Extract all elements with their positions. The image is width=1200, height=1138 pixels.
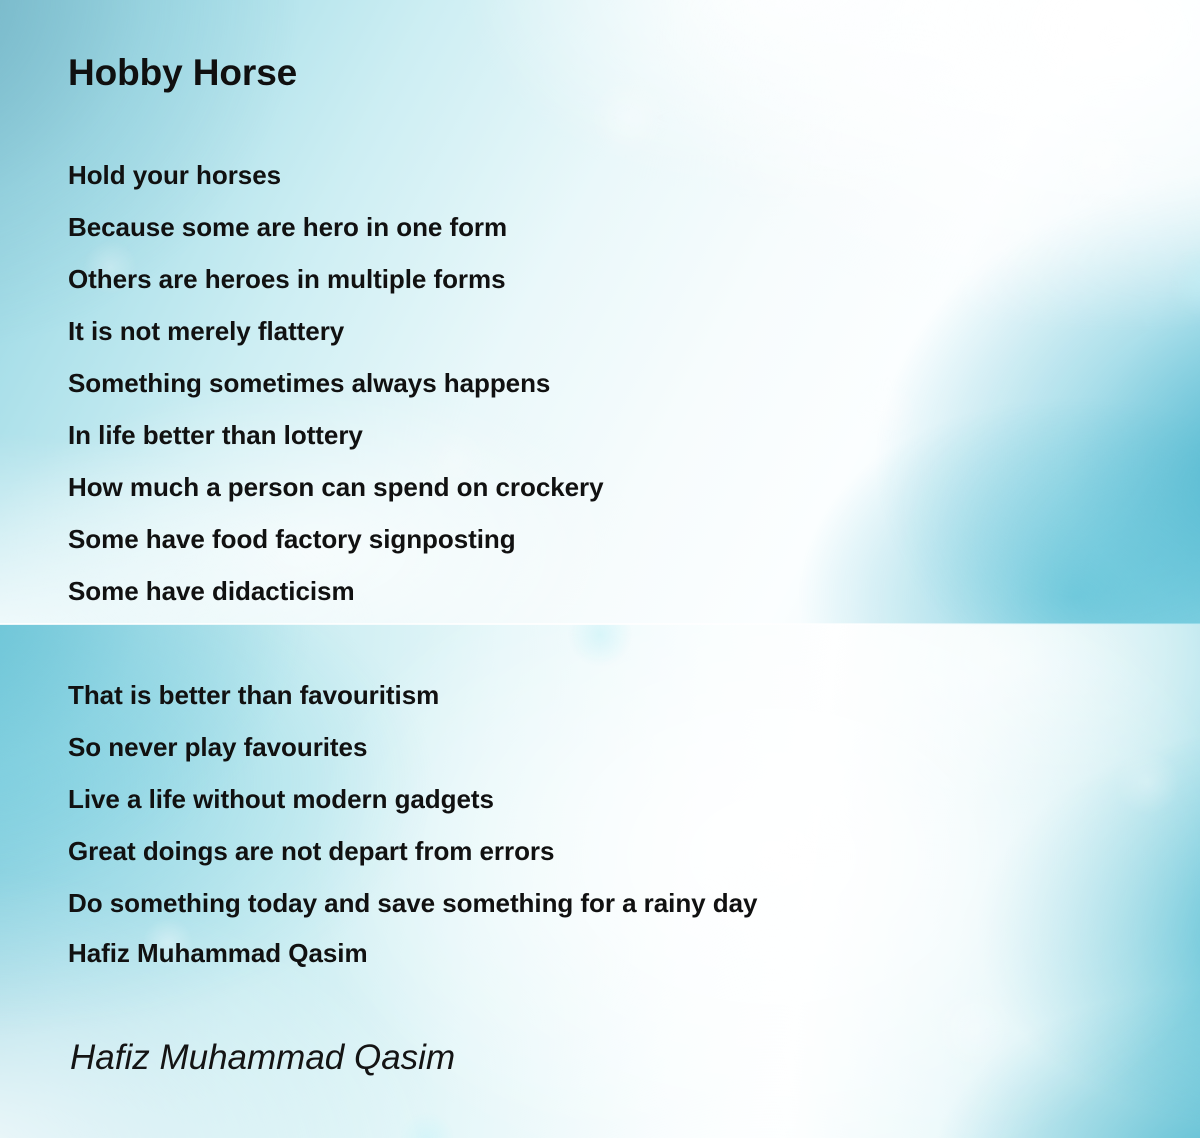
- author-signature: Hafiz Muhammad Qasim: [70, 1038, 455, 1078]
- poem-line: It is not merely flattery: [68, 316, 344, 347]
- poem-line: Hafiz Muhammad Qasim: [68, 938, 368, 969]
- poem-line: Do something today and save something fo…: [68, 888, 757, 919]
- poem-line: How much a person can spend on crockery: [68, 472, 604, 503]
- page-title: Hobby Horse: [68, 52, 297, 94]
- poem-line: Because some are hero in one form: [68, 212, 507, 243]
- poem-line: Live a life without modern gadgets: [68, 784, 494, 815]
- poem-line: Some have didacticism: [68, 576, 355, 607]
- poem-line: That is better than favouritism: [68, 680, 439, 711]
- poem-line: Hold your horses: [68, 160, 281, 191]
- poem-line: So never play favourites: [68, 732, 367, 763]
- poem-line: In life better than lottery: [68, 420, 363, 451]
- poem-line: Some have food factory signposting: [68, 524, 516, 555]
- poem-content: Hobby Horse Hold your horsesBecause some…: [0, 0, 1200, 1138]
- poem-line: Great doings are not depart from errors: [68, 836, 554, 867]
- poem-line: Others are heroes in multiple forms: [68, 264, 505, 295]
- poem-page: Hobby Horse Hold your horsesBecause some…: [0, 0, 1200, 1138]
- poem-line: Something sometimes always happens: [68, 368, 550, 399]
